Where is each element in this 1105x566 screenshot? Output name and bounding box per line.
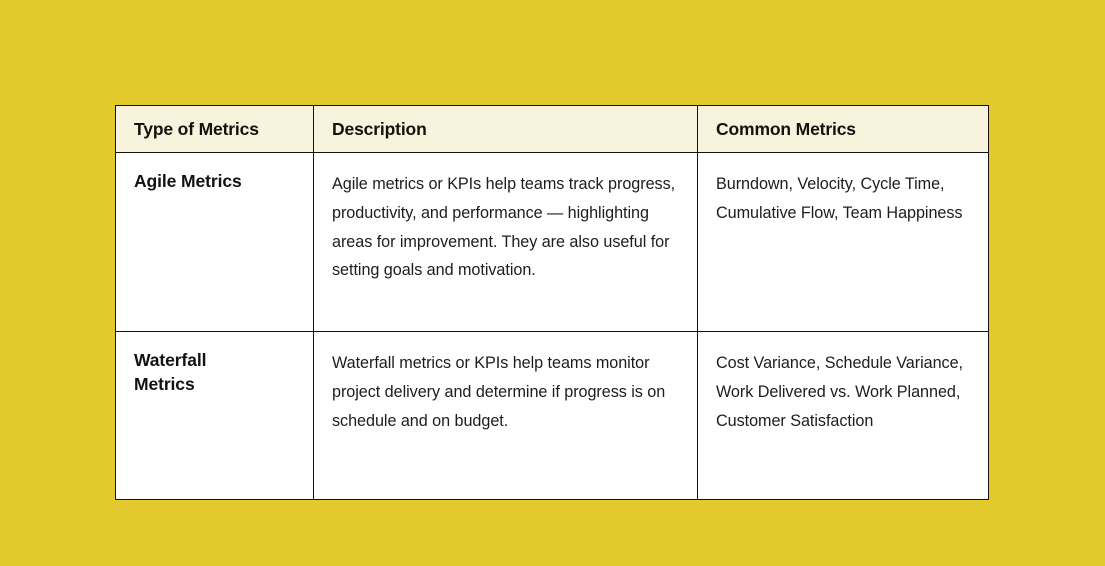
column-header-label: Common Metrics <box>716 119 988 140</box>
metric-type-label: Agile Metrics <box>134 170 293 194</box>
column-header-common-metrics: Common Metrics <box>698 106 989 153</box>
column-header-label: Description <box>332 119 697 140</box>
metrics-comparison-table: Type of Metrics Description Common Metri… <box>115 105 989 500</box>
cell-metric-type: Waterfall Metrics <box>116 332 314 500</box>
table-header: Type of Metrics Description Common Metri… <box>116 106 989 153</box>
cell-common-metrics: Cost Variance, Schedule Variance, Work D… <box>698 332 989 500</box>
cell-description: Waterfall metrics or KPIs help teams mon… <box>314 332 698 500</box>
metric-description-text: Agile metrics or KPIs help teams track p… <box>332 170 677 285</box>
table-row: Waterfall Metrics Waterfall metrics or K… <box>116 332 989 500</box>
common-metrics-text: Cost Variance, Schedule Variance, Work D… <box>716 349 968 435</box>
table-header-row: Type of Metrics Description Common Metri… <box>116 106 989 153</box>
metric-description-text: Waterfall metrics or KPIs help teams mon… <box>332 349 677 435</box>
page-canvas: Type of Metrics Description Common Metri… <box>0 0 1105 566</box>
common-metrics-text: Burndown, Velocity, Cycle Time, Cumulati… <box>716 170 968 228</box>
column-header-type-of-metrics: Type of Metrics <box>116 106 314 153</box>
column-header-description: Description <box>314 106 698 153</box>
table-row: Agile Metrics Agile metrics or KPIs help… <box>116 153 989 332</box>
metric-type-label: Waterfall Metrics <box>134 349 254 396</box>
column-header-label: Type of Metrics <box>134 119 313 140</box>
cell-metric-type: Agile Metrics <box>116 153 314 332</box>
cell-common-metrics: Burndown, Velocity, Cycle Time, Cumulati… <box>698 153 989 332</box>
cell-description: Agile metrics or KPIs help teams track p… <box>314 153 698 332</box>
table-body: Agile Metrics Agile metrics or KPIs help… <box>116 153 989 500</box>
